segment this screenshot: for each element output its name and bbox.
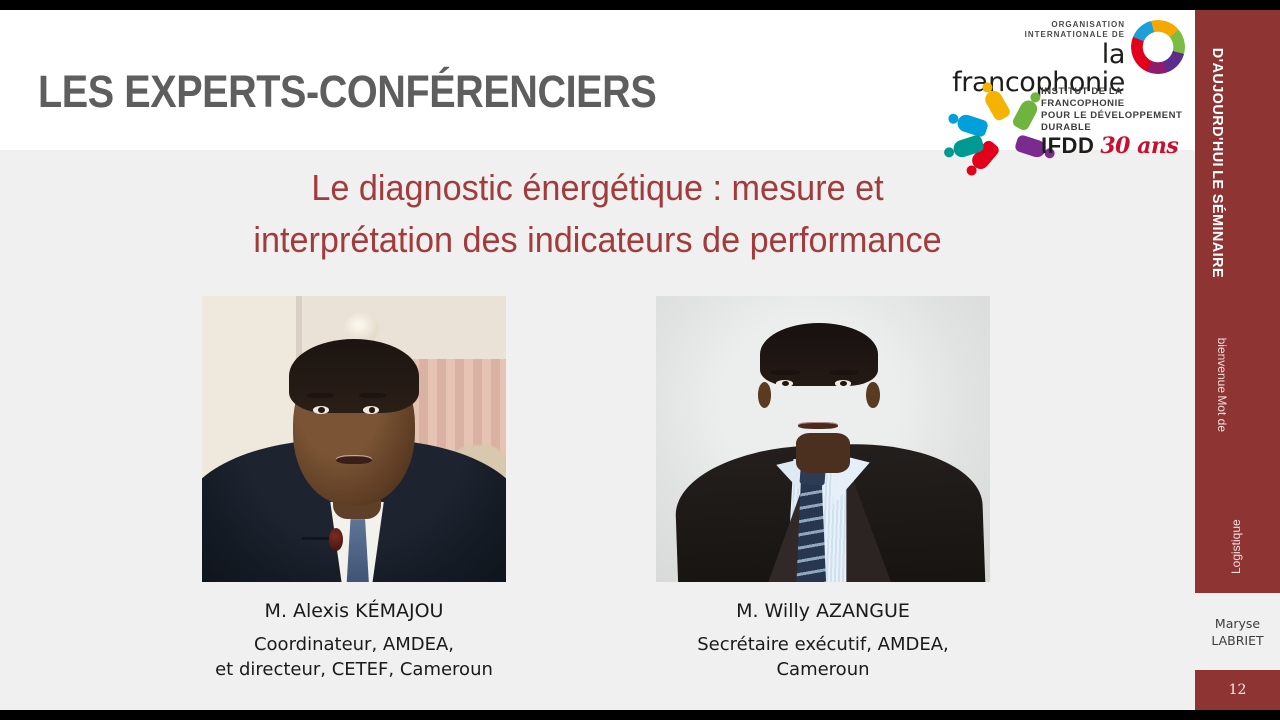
photo-1-mouth	[336, 455, 372, 465]
letterbox-top	[0, 0, 1280, 10]
photo-2-eyebrow-right	[830, 370, 858, 375]
speaker-2-role: Secrétaire exécutif, AMDEA, Cameroun	[654, 632, 992, 682]
photo-2-eye-right	[835, 380, 852, 387]
oif-logo: ORGANISATION INTERNATIONALE DE la franco…	[975, 20, 1187, 82]
speaker-caption-2: M. Willy AZANGUE Secrétaire exécutif, AM…	[654, 598, 992, 682]
speaker-photo-2	[656, 296, 990, 582]
oif-line-2: INTERNATIONALE DE	[952, 30, 1125, 40]
photo-2-tie	[796, 476, 826, 582]
photo-2-eyebrow-left	[771, 370, 799, 375]
ifdd-line-2: POUR LE DÉVELOPPEMENT DURABLE	[1041, 110, 1187, 134]
francophonie-ring-icon	[1131, 20, 1185, 74]
photo-1-hair	[289, 339, 420, 413]
page-number: 12	[1229, 682, 1247, 698]
slide-canvas: LES EXPERTS-CONFÉRENCIERS ORGANISATION I…	[0, 0, 1280, 720]
photo-1-eye-right	[363, 406, 379, 413]
ifdd-logo-text: INSTITUT DE LA FRANCOPHONIE POUR LE DÉVE…	[1041, 86, 1187, 157]
sidebar-item-logistique-label: Logistique	[1229, 519, 1243, 574]
photo-2-ear-left	[758, 382, 771, 408]
speaker-2-name: M. Willy AZANGUE	[654, 598, 992, 624]
navigation-sidebar: LE SÉMINAIRE D'AUJOURD'HUI Mot de bienve…	[1195, 10, 1280, 710]
speaker-1-role: Coordinateur, AMDEA, et directeur, CETEF…	[200, 632, 508, 682]
page-number-badge: 12	[1195, 670, 1280, 710]
photo-2-eye-left	[776, 380, 793, 387]
speaker-1-role-line-1: Coordinateur, AMDEA,	[200, 632, 508, 657]
author-first-name: Maryse	[1215, 616, 1260, 631]
author-last-name: LABRIET	[1211, 633, 1263, 648]
slide-header: LES EXPERTS-CONFÉRENCIERS ORGANISATION I…	[0, 10, 1195, 150]
logo-block: ORGANISATION INTERNATIONALE DE la franco…	[972, 18, 1187, 146]
author-credit: Maryse LABRIET	[1195, 593, 1280, 670]
sidebar-section-heading: LE SÉMINAIRE D'AUJOURD'HUI	[1209, 98, 1225, 278]
speaker-1-role-line-2: et directeur, CETEF, Cameroun	[200, 657, 508, 682]
ifdd-logo: INSTITUT DE LA FRANCOPHONIE POUR LE DÉVE…	[972, 84, 1187, 146]
subtitle-line-2: interprétation des indicateurs de perfor…	[87, 214, 1108, 266]
sidebar-item-mot-de-bienvenue[interactable]: Mot de bienvenue	[1215, 328, 1229, 432]
subtitle-line-1: Le diagnostic énergétique : mesure et	[87, 162, 1108, 214]
sidebar-heading-line-2: D'AUJOURD'HUI	[1209, 48, 1225, 167]
photo-1-microphone	[302, 528, 357, 551]
ifdd-abbreviation: IFDD	[1041, 135, 1094, 157]
ifdd-line-1: INSTITUT DE LA FRANCOPHONIE	[1041, 86, 1187, 110]
sidebar-item-mot-line-1: Mot de	[1215, 395, 1229, 432]
speaker-2-role-line-1: Secrétaire exécutif, AMDEA,	[654, 632, 992, 657]
photo-1-eye-left	[313, 406, 329, 413]
sidebar-heading-line-1: LE SÉMINAIRE	[1209, 170, 1225, 278]
ifdd-bottom-row: IFDD 30 ans	[1041, 135, 1187, 157]
ifdd-anniversary: 30 ans	[1100, 135, 1178, 157]
photo-1-microphone-head	[329, 528, 343, 551]
page-title: LES EXPERTS-CONFÉRENCIERS	[38, 66, 656, 118]
photo-2-mouth	[798, 422, 838, 429]
slide-subtitle: Le diagnostic énergétique : mesure et in…	[87, 162, 1108, 266]
speaker-photo-1	[202, 296, 506, 582]
oif-line-1: ORGANISATION	[952, 20, 1125, 30]
photo-2-ear-right	[866, 382, 879, 408]
speaker-caption-1: M. Alexis KÉMAJOU Coordinateur, AMDEA, e…	[200, 598, 508, 682]
sidebar-item-logistique[interactable]: Logistique	[1227, 478, 1245, 574]
sidebar-panel: LE SÉMINAIRE D'AUJOURD'HUI Mot de bienve…	[1195, 10, 1280, 593]
speaker-2-role-line-2: Cameroun	[654, 657, 992, 682]
ifdd-people-icon	[972, 86, 1038, 144]
slide-body: LES EXPERTS-CONFÉRENCIERS ORGANISATION I…	[0, 10, 1195, 710]
letterbox-bottom	[0, 710, 1280, 720]
photo-2-hair	[760, 323, 879, 386]
speaker-1-name: M. Alexis KÉMAJOU	[200, 598, 508, 624]
sidebar-item-mot-line-2: bienvenue	[1215, 338, 1229, 393]
